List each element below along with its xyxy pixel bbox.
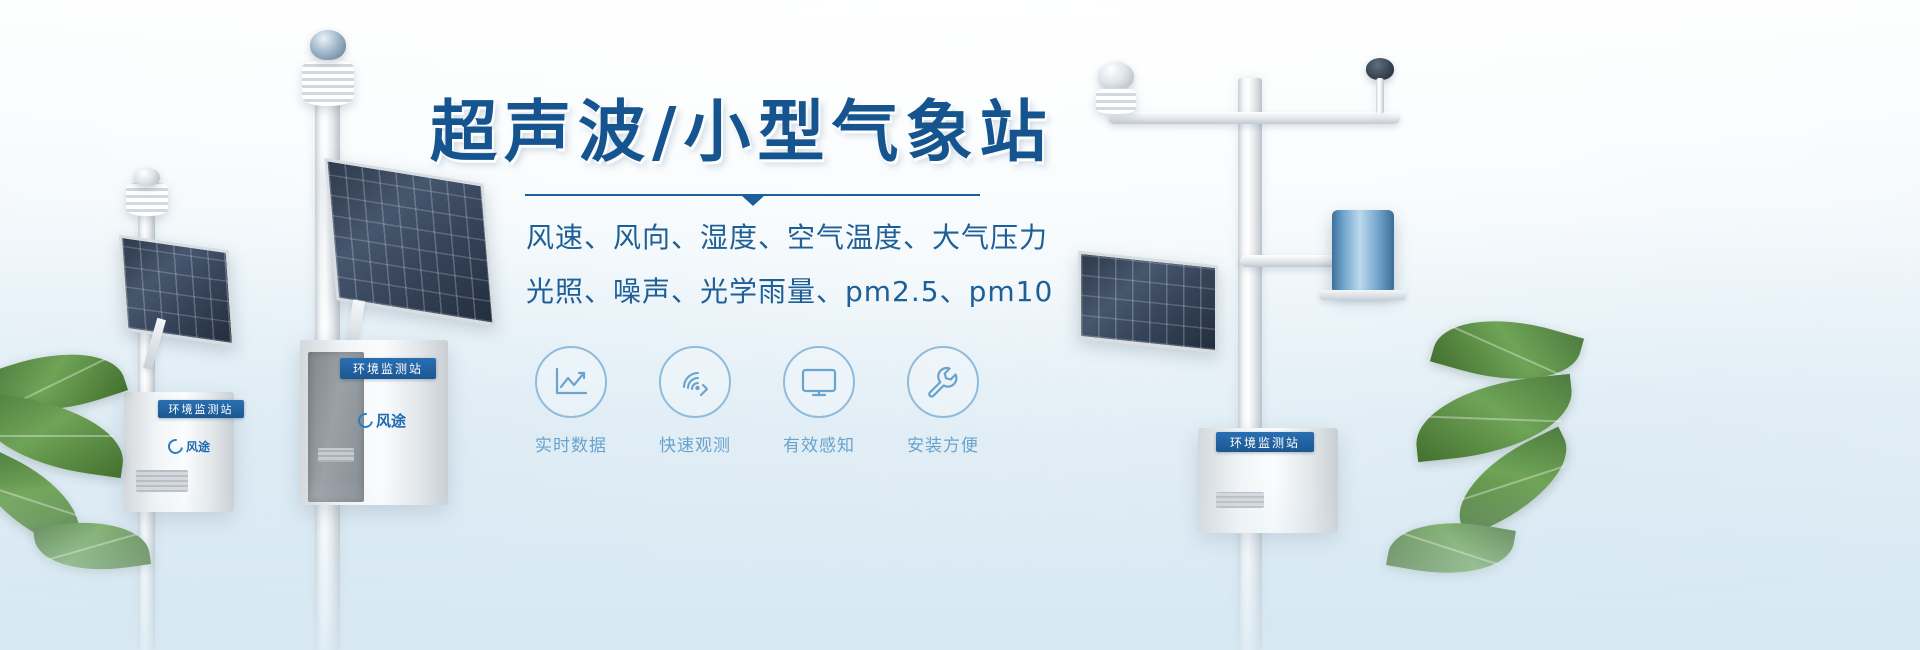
subtitle-line-2: 光照、噪声、光学雨量、pm2.5、pm10 bbox=[526, 270, 1070, 310]
right-station-mast bbox=[1238, 78, 1262, 650]
center-cabinet-vent bbox=[318, 448, 354, 462]
bottom-fade-overlay bbox=[0, 480, 1920, 650]
right-wind-vane-stem bbox=[1376, 78, 1384, 114]
caret-down-icon bbox=[741, 195, 765, 206]
right-wind-vane-sensor bbox=[1366, 58, 1394, 80]
center-radiation-shield bbox=[302, 60, 354, 106]
feature-icon-ring bbox=[783, 346, 855, 418]
radar-signal-icon bbox=[677, 365, 713, 399]
left-cabinet-vent bbox=[136, 470, 188, 492]
right-station-nameplate: 环境监测站 bbox=[1216, 432, 1314, 452]
right-station-crossarm-upper bbox=[1108, 112, 1400, 124]
line-chart-icon bbox=[553, 366, 589, 398]
title-divider bbox=[525, 194, 980, 196]
page-title: 超声波/小型气象站 bbox=[430, 96, 1070, 168]
feature-label: 安装方便 bbox=[902, 431, 984, 456]
feature-list: 实时数据 快速观测 bbox=[530, 346, 1070, 456]
left-solar-panel bbox=[119, 235, 235, 347]
product-banner: 环境监测站 风途 环境监测站 风途 环境监测站 bbox=[0, 0, 1920, 650]
feature-item-fast-observation[interactable]: 快速观测 bbox=[654, 346, 736, 456]
feature-item-realtime-data[interactable]: 实时数据 bbox=[530, 346, 612, 456]
center-station-brandmark: 风途 bbox=[358, 410, 406, 431]
left-sensor-head bbox=[134, 168, 160, 186]
feature-item-effective-sensing[interactable]: 有效感知 bbox=[778, 346, 860, 456]
center-brand-label: 风途 bbox=[376, 410, 406, 431]
center-station-nameplate: 环境监测站 bbox=[340, 358, 436, 379]
right-solar-panel bbox=[1078, 251, 1218, 354]
banner-content: 超声波/小型气象站 风速、风向、湿度、空气温度、大气压力 光照、噪声、光学雨量、… bbox=[430, 96, 1070, 456]
left-station-nameplate: 环境监测站 bbox=[158, 400, 244, 418]
feature-item-easy-installation[interactable]: 安装方便 bbox=[902, 346, 984, 456]
right-cabinet-vent bbox=[1216, 492, 1264, 508]
center-ultrasonic-sensor bbox=[310, 30, 346, 60]
feature-icon-ring bbox=[907, 346, 979, 418]
feature-label: 实时数据 bbox=[530, 431, 612, 456]
left-brand-label: 风途 bbox=[186, 438, 210, 455]
right-radiation-shield bbox=[1096, 88, 1136, 114]
left-station-brandmark: 风途 bbox=[168, 438, 210, 455]
feature-icon-ring bbox=[659, 346, 731, 418]
wrench-icon bbox=[925, 365, 961, 399]
right-ultrasonic-anemometer bbox=[1098, 62, 1134, 90]
subtitle-line-1: 风速、风向、湿度、空气温度、大气压力 bbox=[526, 216, 1070, 256]
feature-icon-ring bbox=[535, 346, 607, 418]
brand-swoosh-icon bbox=[355, 410, 376, 431]
brand-swoosh-icon bbox=[165, 436, 186, 457]
right-rain-gauge bbox=[1332, 210, 1394, 292]
monitor-screen-icon bbox=[800, 366, 838, 398]
feature-label: 快速观测 bbox=[654, 431, 736, 456]
left-radiation-shield bbox=[126, 182, 168, 216]
right-rain-gauge-shelf bbox=[1320, 290, 1406, 300]
feature-label: 有效感知 bbox=[778, 431, 860, 456]
